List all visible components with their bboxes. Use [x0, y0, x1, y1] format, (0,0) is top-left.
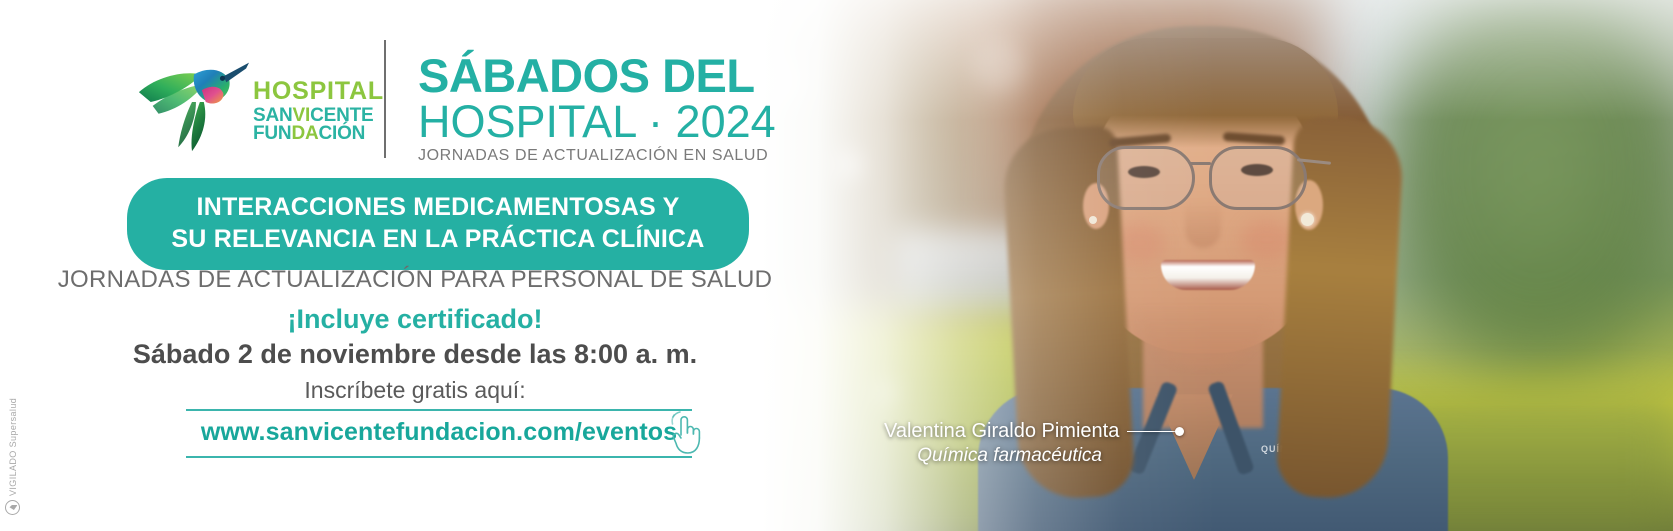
logo-fundacion-text: FUNDACIÓN — [253, 124, 384, 143]
caption-leader-dot — [1175, 427, 1184, 436]
event-date: Sábado 2 de noviembre desde las 8:00 a. … — [0, 339, 830, 370]
mouth — [1161, 260, 1255, 290]
supersalud-seal-icon — [6, 500, 21, 515]
topic-pill: INTERACCIONES MEDICAMENTOSAS Y SU RELEVA… — [127, 178, 749, 270]
eyeglasses-icon — [1091, 146, 1321, 208]
certificate-note: ¡Incluye certificado! — [0, 304, 830, 335]
earring-left — [1089, 216, 1097, 224]
logo-title-divider — [384, 40, 386, 158]
speaker-caption: Valentina Giraldo Pimienta Química farma… — [884, 420, 1184, 467]
cheek-right — [1241, 220, 1293, 260]
content-pane: VIGILADO Supersalud — [0, 0, 830, 531]
bokeh-light — [833, 150, 863, 180]
speaker-role: Química farmacéutica — [884, 445, 1102, 467]
logo-wordmark: HOSPITAL SANVICENTE FUNDACIÓN — [253, 79, 384, 143]
registration-url[interactable]: www.sanvicentefundacion.com/eventos — [201, 418, 677, 446]
speaker-photo: QUÍMICA F — [723, 0, 1673, 531]
lens-right — [1209, 146, 1307, 210]
caption-leader-line — [1127, 431, 1176, 433]
hand-click-icon — [663, 409, 709, 457]
earring-right — [1301, 213, 1314, 226]
event-title: SÁBADOS DEL HOSPITAL · 2024 JORNADAS DE … — [418, 52, 776, 165]
speaker-name-row: Valentina Giraldo Pimienta — [884, 420, 1184, 443]
audience-subtitle: JORNADAS DE ACTUALIZACIÓN PARA PERSONAL … — [0, 266, 830, 294]
topic-line-1: INTERACCIONES MEDICAMENTOSAS Y — [153, 191, 723, 223]
vigilado-label: VIGILADO Supersalud — [8, 398, 18, 496]
hospital-logo: HOSPITAL SANVICENTE FUNDACIÓN — [133, 35, 384, 165]
bokeh-light — [873, 380, 899, 406]
title-line-2: HOSPITAL · 2024 — [418, 98, 776, 145]
logo-da: DA — [291, 123, 318, 144]
lens-left — [1097, 146, 1195, 210]
registration-url-box[interactable]: www.sanvicentefundacion.com/eventos — [186, 409, 692, 458]
title-line-3: JORNADAS DE ACTUALIZACIÓN EN SALUD — [418, 147, 776, 165]
glasses-bridge — [1189, 162, 1211, 165]
register-prompt: Inscríbete gratis aquí: — [0, 377, 830, 404]
logo-fun: FUN — [253, 123, 291, 144]
logo-hospital-text: HOSPITAL — [253, 79, 384, 104]
speaker-name: Valentina Giraldo Pimienta — [884, 420, 1119, 443]
logo-cion: CIÓN — [319, 123, 366, 144]
title-line-1: SÁBADOS DEL — [418, 52, 776, 100]
hummingbird-icon — [133, 40, 251, 160]
event-promo-banner: QUÍMICA F — [0, 0, 1673, 531]
topic-line-2: SU RELEVANCIA EN LA PRÁCTICA CLÍNICA — [153, 223, 723, 255]
